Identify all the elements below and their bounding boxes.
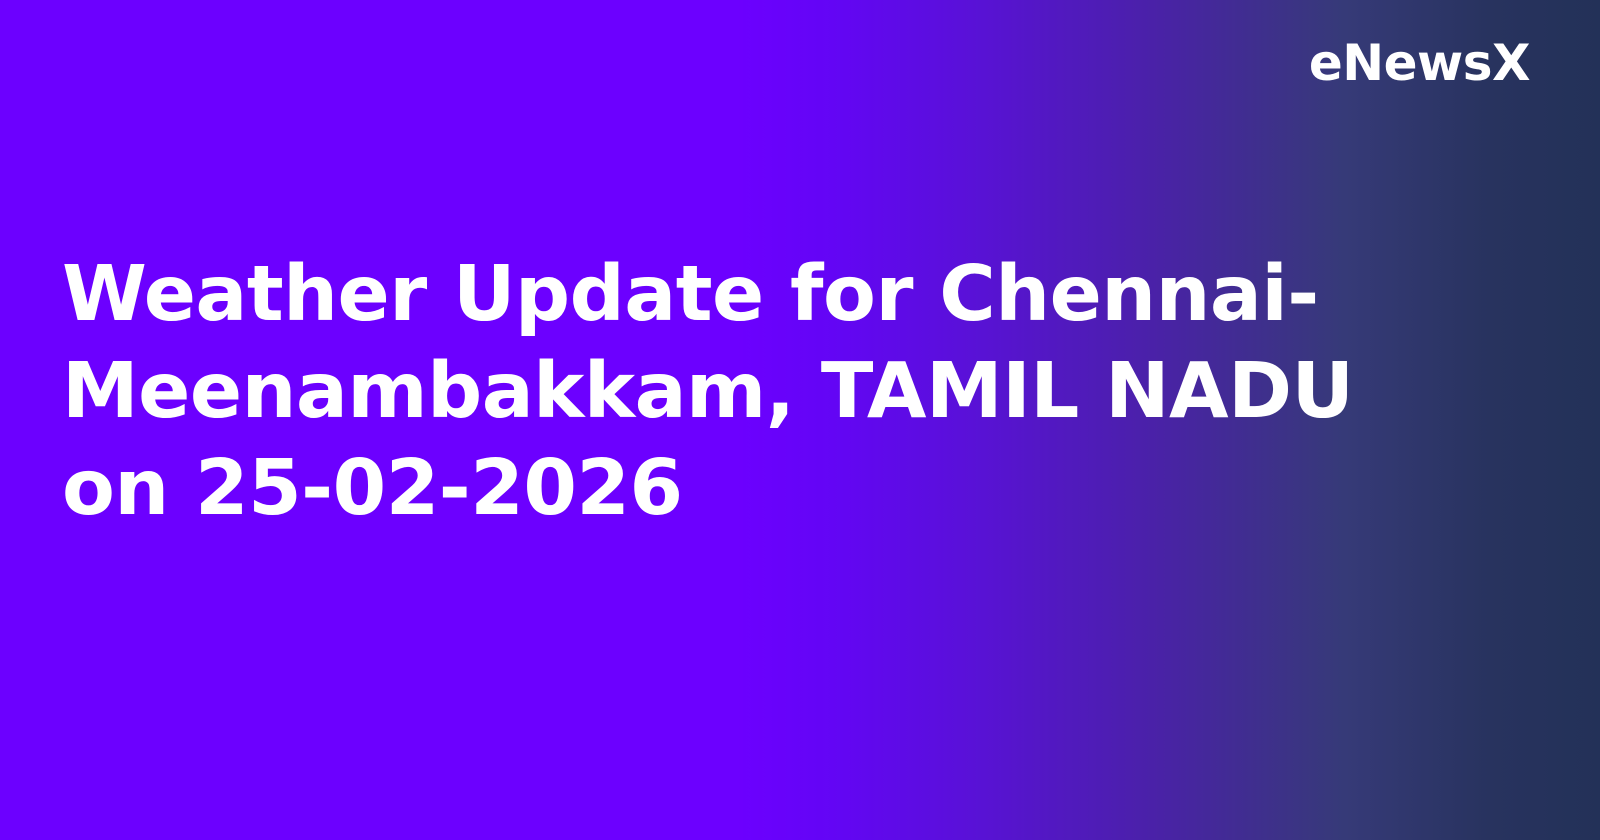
page-title: Weather Update for Chennai-Meenambakkam,… bbox=[62, 246, 1392, 537]
brand-logo-text: eNewsX bbox=[1309, 38, 1530, 88]
news-card: eNewsX Weather Update for Chennai-Meenam… bbox=[0, 0, 1600, 840]
headline-block: Weather Update for Chennai-Meenambakkam,… bbox=[62, 246, 1392, 537]
brand-logo[interactable]: eNewsX bbox=[1309, 32, 1530, 94]
